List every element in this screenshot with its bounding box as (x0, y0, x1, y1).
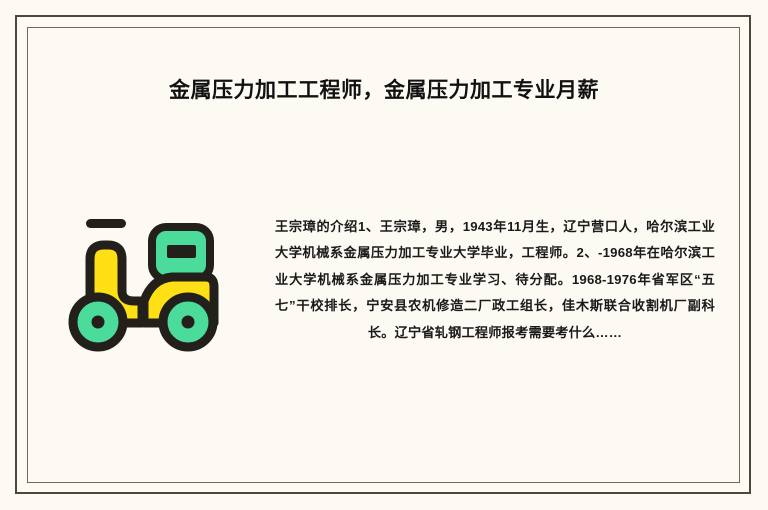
scooter-rear-hub-icon (182, 316, 195, 329)
illustration-container (30, 205, 260, 355)
page-title: 金属压力加工工程师，金属压力加工专业月薪 (62, 74, 706, 108)
scooter-icon (60, 205, 230, 355)
content-area: 王宗璋的介绍1、王宗璋，男，1943年11月生，辽宁营口人，哈尔滨工业大学机械系… (30, 150, 738, 410)
article-summary-text: 王宗璋的介绍1、王宗璋，男，1943年11月生，辽宁营口人，哈尔滨工业大学机械系… (275, 214, 715, 347)
page-root: 金属压力加工工程师，金属压力加工专业月薪 王宗璋的介绍1、王宗璋，男，194 (0, 0, 768, 510)
scooter-box-slot-icon (167, 245, 196, 258)
scooter-handlebar-icon (86, 219, 126, 228)
scooter-front-hub-icon (92, 316, 105, 329)
paragraph-container: 王宗璋的介绍1、王宗璋，男，1943年11月生，辽宁营口人，哈尔滨工业大学机械系… (260, 214, 738, 347)
